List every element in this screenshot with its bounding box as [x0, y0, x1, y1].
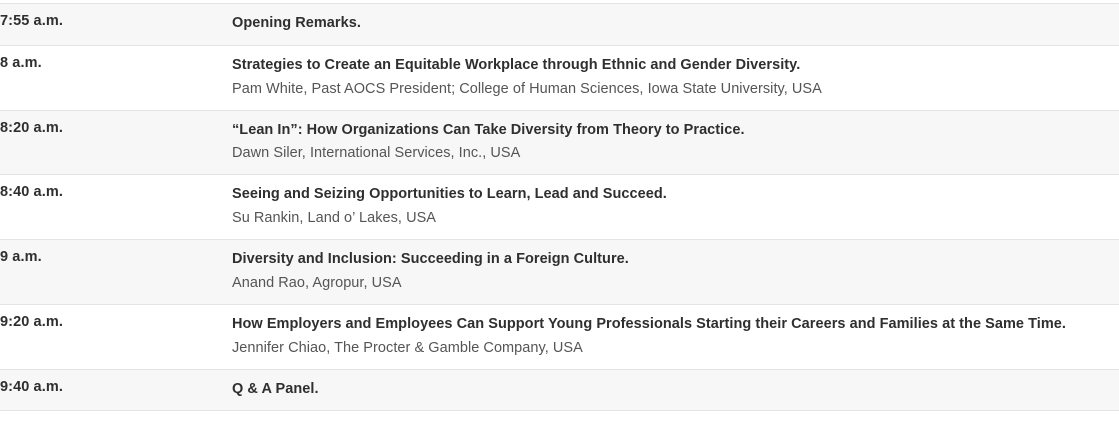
session-detail: “Lean In”: How Organizations Can Take Di…	[232, 110, 1119, 175]
session-title: Q & A Panel.	[232, 379, 1119, 401]
session-schedule-table: 7:55 a.m. Opening Remarks. 8 a.m. Strate…	[0, 3, 1119, 411]
session-speaker: Dawn Siler, International Services, Inc.…	[232, 141, 1119, 164]
table-row: 9:20 a.m. How Employers and Employees Ca…	[0, 304, 1119, 369]
session-detail: Q & A Panel.	[232, 369, 1119, 411]
session-title: Strategies to Create an Equitable Workpl…	[232, 55, 1119, 77]
session-speaker: Su Rankin, Land o’ Lakes, USA	[232, 206, 1119, 229]
schedule-body: 7:55 a.m. Opening Remarks. 8 a.m. Strate…	[0, 4, 1119, 411]
table-row: 8 a.m. Strategies to Create an Equitable…	[0, 45, 1119, 110]
session-title: Diversity and Inclusion: Succeeding in a…	[232, 249, 1119, 271]
session-detail: Strategies to Create an Equitable Workpl…	[232, 45, 1119, 110]
session-time: 8:40 a.m.	[0, 175, 232, 240]
session-time: 9:20 a.m.	[0, 304, 232, 369]
session-speaker: Jennifer Chiao, The Procter & Gamble Com…	[232, 336, 1119, 359]
schedule-container: 7:55 a.m. Opening Remarks. 8 a.m. Strate…	[0, 0, 1119, 411]
session-time: 8:20 a.m.	[0, 110, 232, 175]
session-time: 9 a.m.	[0, 240, 232, 305]
session-time: 9:40 a.m.	[0, 369, 232, 411]
table-row: 7:55 a.m. Opening Remarks.	[0, 4, 1119, 46]
session-detail: Opening Remarks.	[232, 4, 1119, 46]
session-title: Opening Remarks.	[232, 13, 1119, 35]
session-speaker: Anand Rao, Agropur, USA	[232, 271, 1119, 294]
table-row: 8:20 a.m. “Lean In”: How Organizations C…	[0, 110, 1119, 175]
session-detail: Seeing and Seizing Opportunities to Lear…	[232, 175, 1119, 240]
table-row: 9:40 a.m. Q & A Panel.	[0, 369, 1119, 411]
session-detail: Diversity and Inclusion: Succeeding in a…	[232, 240, 1119, 305]
session-title: How Employers and Employees Can Support …	[232, 314, 1119, 336]
session-time: 8 a.m.	[0, 45, 232, 110]
session-speaker: Pam White, Past AOCS President; College …	[232, 77, 1119, 100]
session-time: 7:55 a.m.	[0, 4, 232, 46]
table-row: 8:40 a.m. Seeing and Seizing Opportuniti…	[0, 175, 1119, 240]
session-title: “Lean In”: How Organizations Can Take Di…	[232, 120, 1119, 142]
table-row: 9 a.m. Diversity and Inclusion: Succeedi…	[0, 240, 1119, 305]
session-title: Seeing and Seizing Opportunities to Lear…	[232, 184, 1119, 206]
session-detail: How Employers and Employees Can Support …	[232, 304, 1119, 369]
